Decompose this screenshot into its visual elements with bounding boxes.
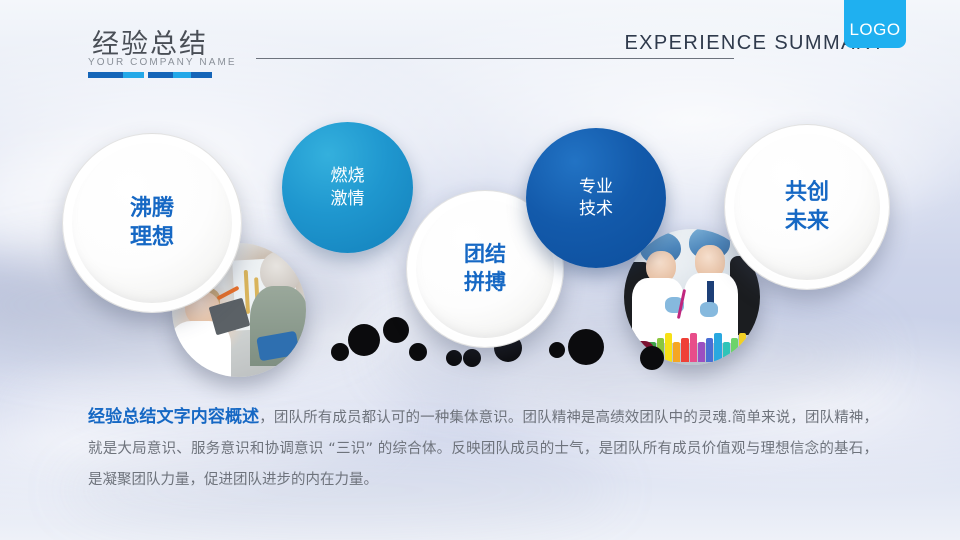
value-circle-3-line1: 团结 [464, 241, 506, 269]
value-circle-1-line2: 理想 [130, 223, 174, 252]
accent-bar-segment [123, 72, 144, 78]
accent-bar-segment [148, 72, 173, 78]
page-title: 经验总结 [92, 22, 208, 61]
body-lead-text: 经验总结文字内容概述 [88, 407, 259, 427]
decorative-dot [331, 343, 349, 361]
value-circle-5[interactable]: 共创 未来 [724, 124, 890, 290]
value-circle-1[interactable]: 沸腾 理想 [62, 133, 242, 313]
value-circle-4-label: 专业 技术 [579, 176, 613, 221]
decorative-dot [409, 343, 427, 361]
company-name: YOUR COMPANY NAME [88, 57, 237, 68]
test-tube [690, 333, 697, 362]
test-tube [665, 333, 672, 362]
decorative-dot [463, 349, 481, 367]
value-circle-5-line2: 未来 [785, 207, 829, 236]
slide-header: 经验总结 YOUR COMPANY NAME EXPERIENCE SUMMAR… [0, 0, 960, 88]
glove-shape [700, 302, 718, 317]
value-circle-4-line2: 技术 [579, 198, 613, 220]
test-tube [681, 338, 688, 363]
value-circle-5-line1: 共创 [785, 178, 829, 207]
logo-label: LOGO [849, 20, 900, 48]
slide-canvas: 经验总结 YOUR COMPANY NAME EXPERIENCE SUMMAR… [0, 0, 960, 540]
test-tube [731, 338, 738, 363]
test-tube [739, 333, 746, 362]
value-circle-2-line2: 激情 [331, 188, 365, 210]
decorative-dot [640, 346, 664, 370]
accent-bar-segment [173, 72, 190, 78]
value-circle-2-label: 燃烧 激情 [331, 165, 365, 210]
accent-bar-segment [88, 72, 123, 78]
value-circle-4[interactable]: 专业 技术 [526, 128, 666, 268]
value-circle-1-label: 沸腾 理想 [130, 194, 174, 252]
test-tube [698, 342, 705, 362]
test-tube [706, 338, 713, 363]
flask-green-shape [624, 341, 642, 357]
decorative-dot [348, 324, 380, 356]
decorative-dot [549, 342, 565, 358]
test-tube [723, 342, 730, 362]
value-circle-3-label: 团结 拼搏 [464, 241, 506, 296]
test-tube [673, 342, 680, 362]
accent-bar-group [88, 72, 212, 78]
decorative-dot [568, 329, 604, 365]
decorative-dot [446, 350, 462, 366]
body-paragraph: 经验总结文字内容概述，团队所有成员都认可的一种集体意识。团队精神是高绩效团队中的… [88, 402, 878, 496]
value-circle-4-line1: 专业 [579, 176, 613, 198]
value-circle-2-line1: 燃烧 [331, 165, 365, 187]
value-circle-1-line1: 沸腾 [130, 194, 174, 223]
logo-badge: LOGO [844, 0, 906, 48]
accent-bar-segment [191, 72, 212, 78]
value-circle-2[interactable]: 燃烧 激情 [282, 122, 413, 253]
test-tube [714, 333, 721, 362]
value-circle-3-line2: 拼搏 [464, 269, 506, 297]
header-divider-line [256, 58, 734, 59]
decorative-dot [383, 317, 409, 343]
value-circle-5-label: 共创 未来 [785, 178, 829, 236]
